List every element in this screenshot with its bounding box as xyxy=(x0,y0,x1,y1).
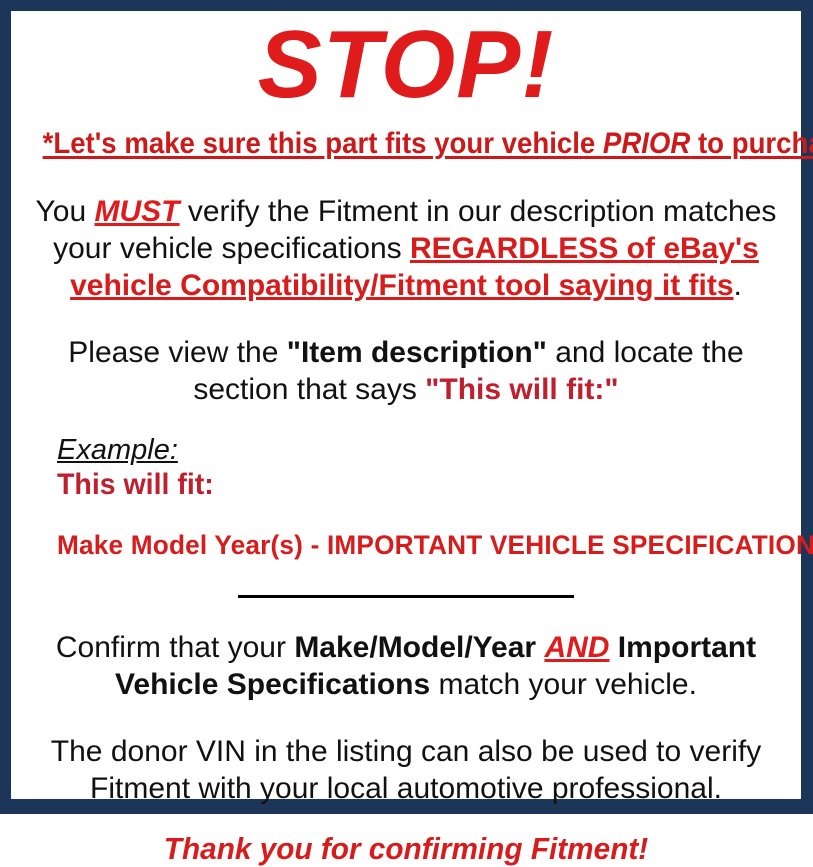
make-model-year-emphasis: Make/Model/Year xyxy=(294,631,536,664)
must-emphasis: MUST xyxy=(95,195,180,228)
view-seg-1: Please view the xyxy=(68,336,286,369)
example-spec-line: Make Model Year(s) - IMPORTANT VEHICLE S… xyxy=(57,502,779,561)
fitment-subtitle: *Let's make sure this part fits your veh… xyxy=(43,117,770,161)
confirm-seg-3 xyxy=(609,631,617,664)
example-label: Example: xyxy=(57,434,178,467)
this-will-fit-quote: "This will fit:" xyxy=(425,373,618,406)
subtitle-text-after: to purchasing* xyxy=(690,127,813,160)
subtitle-text-before: *Let's make sure this part fits your veh… xyxy=(43,127,603,160)
confirm-seg-1: Confirm that your xyxy=(56,631,294,664)
must-seg-3: . xyxy=(734,269,742,302)
item-description-paragraph: Please view the "Item description" and l… xyxy=(21,304,791,408)
confirm-seg-4: match your vehicle. xyxy=(430,668,697,701)
example-block: Example: This will fit: Make Model Year(… xyxy=(11,408,801,561)
donor-vin-paragraph: The donor VIN in the listing can also be… xyxy=(26,703,786,807)
horizontal-divider xyxy=(238,595,574,598)
example-fit-heading: This will fit: xyxy=(57,467,764,502)
must-seg-1: You xyxy=(36,195,95,228)
confirm-paragraph: Confirm that your Make/Model/Year AND Im… xyxy=(26,606,786,703)
divider-wrapper xyxy=(11,561,801,606)
stop-headline: STOP! xyxy=(11,11,801,117)
and-emphasis: AND xyxy=(544,631,609,664)
fitment-notice-card: STOP! *Let's make sure this part fits yo… xyxy=(0,0,813,814)
thank-you-line: Thank you for confirming Fitment! xyxy=(27,807,785,867)
must-verify-paragraph: You MUST verify the Fitment in our descr… xyxy=(26,161,786,304)
item-description-emphasis: "Item description" xyxy=(287,336,547,369)
subtitle-emphasis-prior: PRIOR xyxy=(603,127,690,160)
notice-inner: STOP! *Let's make sure this part fits yo… xyxy=(11,11,801,799)
